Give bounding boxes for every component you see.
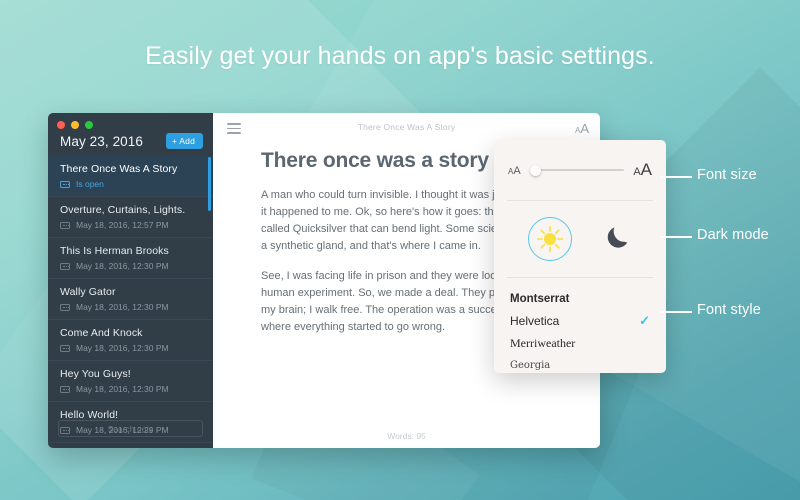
- add-note-button[interactable]: + Add: [166, 133, 203, 149]
- annotation-font-size: Font size: [697, 167, 757, 183]
- sidebar-scrollbar[interactable]: [208, 157, 211, 211]
- keyboard-icon: [60, 181, 70, 188]
- sidebar: May 23, 2016 + Add There Once Was A Stor…: [48, 113, 213, 448]
- font-option[interactable]: Montserrat: [494, 288, 666, 310]
- sidebar-header: May 23, 2016 + Add: [48, 113, 213, 156]
- editor-toolbar: There Once Was A Story AA: [213, 113, 600, 143]
- annotation-leader-line: [660, 236, 692, 238]
- note-item-date: May 18, 2016, 12:30 PM: [76, 302, 169, 312]
- search-note-field[interactable]: Search note: [58, 420, 203, 437]
- note-item-meta: May 18, 2016, 12:57 PM: [60, 220, 201, 230]
- light-mode-option[interactable]: [528, 217, 572, 261]
- search-placeholder: Search note: [108, 424, 154, 434]
- moon-icon: [603, 222, 633, 252]
- note-item-meta: May 18, 2016, 12:30 PM: [60, 384, 201, 394]
- notes-list: There Once Was A StoryIs openOverture, C…: [48, 156, 213, 443]
- annotation-leader-line: [660, 176, 692, 178]
- maximize-button[interactable]: [85, 121, 93, 129]
- font-option-label: Georgia: [510, 360, 550, 371]
- note-list-item[interactable]: Wally GatorMay 18, 2016, 12:30 PM: [48, 279, 213, 320]
- font-size-slider[interactable]: [530, 164, 625, 176]
- headline-text: Easily get your hands on app's basic set…: [0, 42, 800, 71]
- font-size-small-label: AA: [508, 162, 521, 178]
- font-option[interactable]: Merriweather: [494, 332, 666, 354]
- sidebar-date: May 23, 2016: [60, 134, 143, 149]
- keyboard-icon: [60, 345, 70, 352]
- note-item-date: May 18, 2016, 12:57 PM: [76, 220, 169, 230]
- font-size-large-label: AA: [633, 161, 652, 179]
- note-list-item[interactable]: Hey You Guys!May 18, 2016, 12:30 PM: [48, 361, 213, 402]
- note-list-item[interactable]: Come And KnockMay 18, 2016, 12:30 PM: [48, 320, 213, 361]
- note-list-item[interactable]: Overture, Curtains, Lights.May 18, 2016,…: [48, 197, 213, 238]
- keyboard-icon: [60, 222, 70, 229]
- window-traffic-lights: [57, 121, 93, 129]
- font-option[interactable]: Helvetica✓: [494, 310, 666, 332]
- editor-document-title: There Once Was A Story: [213, 122, 600, 132]
- slider-track: [530, 169, 625, 171]
- minimize-button[interactable]: [71, 121, 79, 129]
- appearance-mode-section: [494, 201, 666, 277]
- note-item-date: May 18, 2016, 12:30 PM: [76, 261, 169, 271]
- keyboard-icon: [60, 386, 70, 393]
- note-item-title: Wally Gator: [60, 286, 201, 298]
- note-item-meta: May 18, 2016, 12:30 PM: [60, 261, 201, 271]
- annotation-font-style: Font style: [697, 302, 761, 318]
- note-item-title: This Is Herman Brooks: [60, 245, 201, 257]
- font-option-label: Montserrat: [510, 293, 569, 305]
- check-icon: ✓: [639, 313, 650, 329]
- note-list-item[interactable]: There Once Was A StoryIs open: [48, 156, 213, 197]
- font-style-list: MontserratHelvetica✓MerriweatherGeorgia: [494, 278, 666, 376]
- font-option-label: Merriweather: [510, 336, 575, 351]
- keyboard-icon: [60, 263, 70, 270]
- note-item-title: There Once Was A Story: [60, 163, 201, 175]
- note-item-meta: May 18, 2016, 12:30 PM: [60, 343, 201, 353]
- font-settings-popover: AA AA: [494, 140, 666, 373]
- word-count: Words: 95: [213, 431, 600, 441]
- font-size-section: AA AA: [494, 140, 666, 200]
- sun-icon: [535, 224, 565, 254]
- note-item-date: May 18, 2016, 12:30 PM: [76, 343, 169, 353]
- annotation-dark-mode: Dark mode: [697, 227, 769, 243]
- font-option[interactable]: Georgia: [494, 354, 666, 376]
- dark-mode-option[interactable]: [603, 222, 633, 257]
- note-list-item[interactable]: This Is Herman BrooksMay 18, 2016, 12:30…: [48, 238, 213, 279]
- note-item-title: Come And Knock: [60, 327, 201, 339]
- note-item-title: Overture, Curtains, Lights.: [60, 204, 201, 216]
- annotation-leader-line: [660, 311, 692, 313]
- keyboard-icon: [60, 304, 70, 311]
- close-button[interactable]: [57, 121, 65, 129]
- slider-knob[interactable]: [530, 165, 541, 176]
- note-item-meta: May 18, 2016, 12:30 PM: [60, 302, 201, 312]
- note-item-date: Is open: [76, 179, 104, 189]
- font-option-label: Helvetica: [510, 314, 559, 328]
- note-item-date: May 18, 2016, 12:30 PM: [76, 384, 169, 394]
- note-item-title: Hey You Guys!: [60, 368, 201, 380]
- note-item-meta: Is open: [60, 179, 201, 189]
